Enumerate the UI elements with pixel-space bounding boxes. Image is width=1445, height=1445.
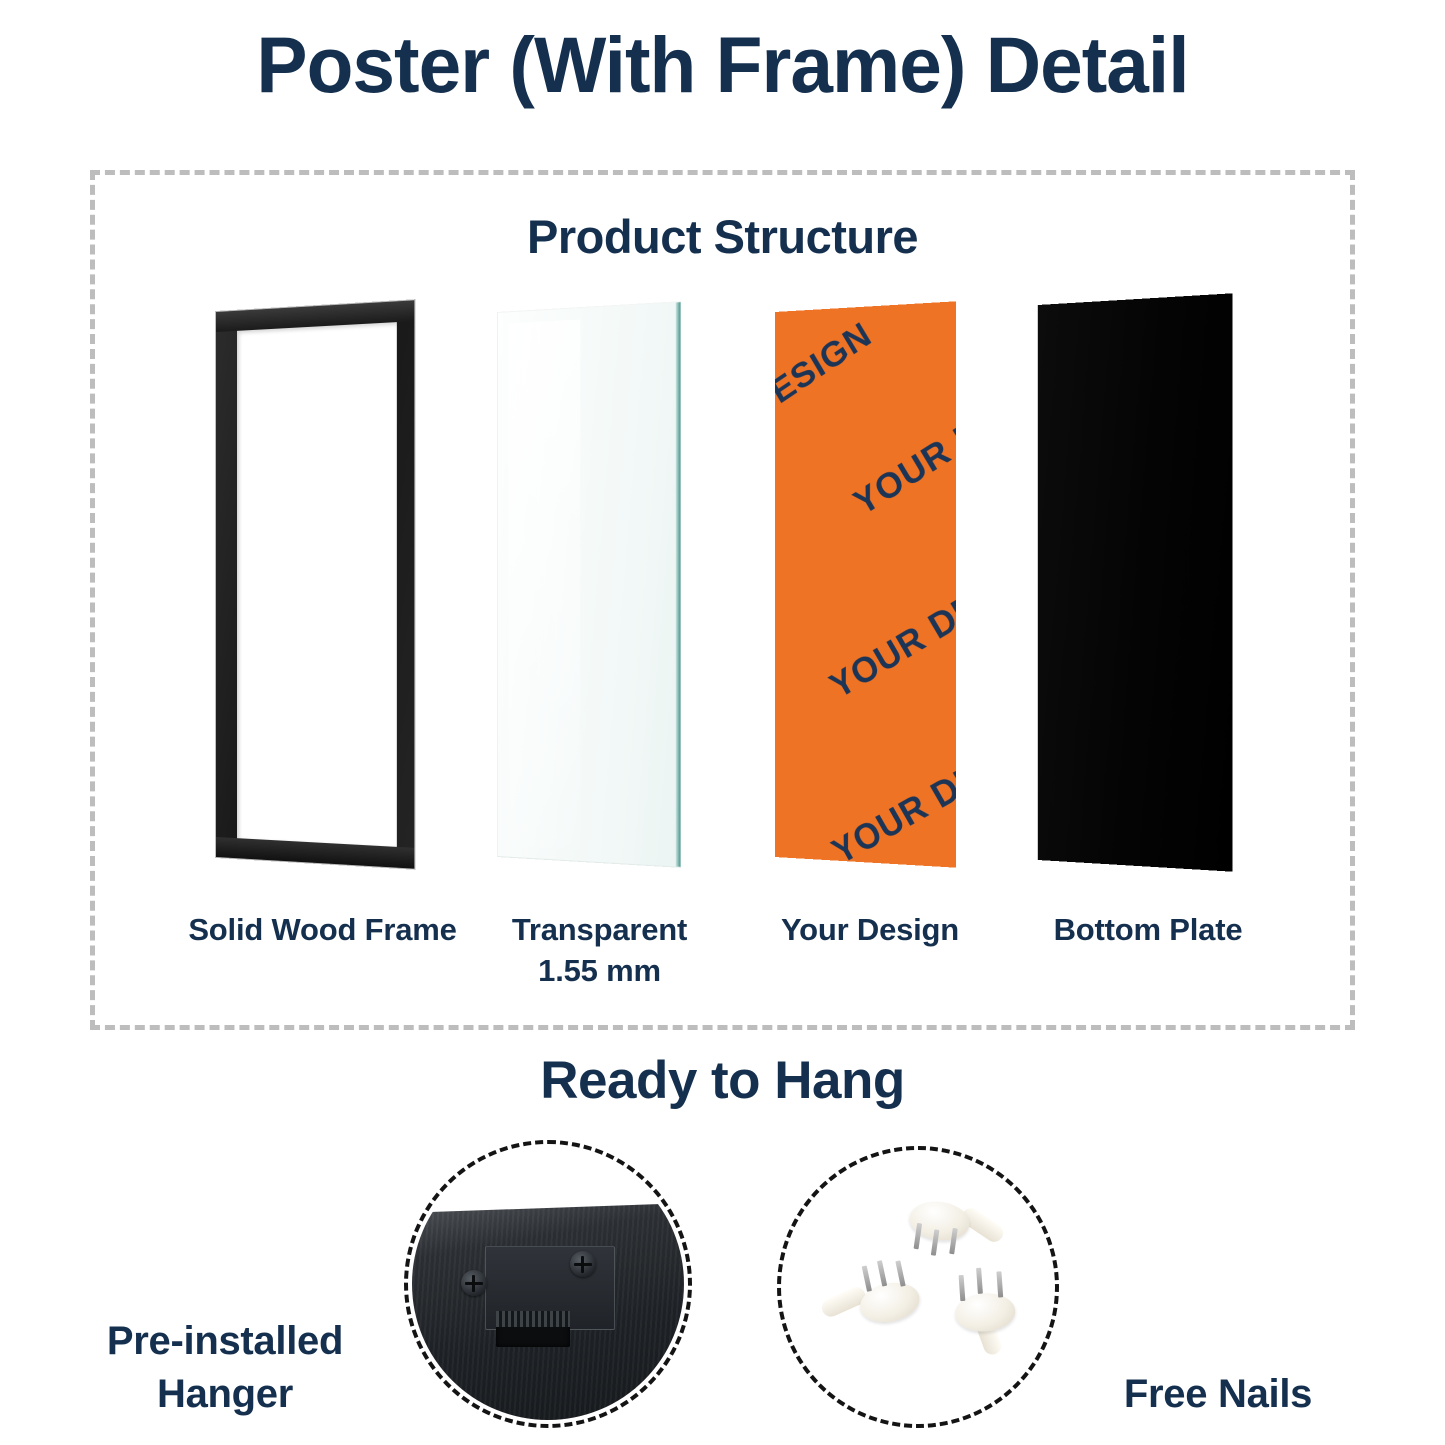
nail-hook-icon xyxy=(856,1269,938,1327)
your-design-illustration: YOUR DESIGN YOUR DESIGN YOUR DESIGN YOUR… xyxy=(775,312,958,857)
glass-green-edge xyxy=(676,302,681,867)
design-watermark-group: YOUR DESIGN YOUR DESIGN YOUR DESIGN YOUR… xyxy=(775,301,956,867)
caption-transparent-sheet: Transparent 1.55 mm xyxy=(462,910,737,992)
screw-icon xyxy=(570,1251,596,1277)
hanger-sawtooth-slot xyxy=(496,1311,569,1346)
frame-opening xyxy=(237,322,397,847)
bottom-plate-face xyxy=(1038,293,1232,871)
caption-line-2: Hanger xyxy=(60,1368,390,1421)
pre-installed-hanger-photo xyxy=(404,1140,692,1428)
design-print-face: YOUR DESIGN YOUR DESIGN YOUR DESIGN YOUR… xyxy=(775,301,956,867)
caption-line-2: 1.55 mm xyxy=(462,951,737,992)
hanger-photo-clip xyxy=(412,1148,684,1420)
caption-pre-installed-hanger: Pre-installed Hanger xyxy=(60,1315,390,1421)
nail-pin xyxy=(976,1268,983,1294)
bottom-plate-illustration xyxy=(1038,305,1234,860)
nails-photo-clip xyxy=(785,1154,1051,1420)
caption-line-1: Pre-installed xyxy=(60,1315,390,1368)
nail-pin xyxy=(862,1266,872,1292)
glass-sheen xyxy=(509,319,581,850)
nails-photo-image xyxy=(785,1154,1051,1420)
transparent-sheet-illustration xyxy=(497,312,683,857)
free-nails-photo xyxy=(777,1146,1059,1428)
nail-pin xyxy=(877,1260,887,1286)
product-structure-heading: Product Structure xyxy=(95,209,1350,264)
solid-wood-frame-illustration xyxy=(216,312,416,857)
nail-hook-icon xyxy=(954,1284,1031,1333)
hanger-photo-image xyxy=(412,1148,684,1420)
caption-bottom-plate: Bottom Plate xyxy=(1003,910,1293,951)
caption-solid-wood-frame: Solid Wood Frame xyxy=(185,910,460,951)
watermark-text: YOUR DESIGN xyxy=(775,535,956,751)
glass-face xyxy=(497,301,681,868)
nail-pin xyxy=(997,1271,1004,1297)
sawtooth-teeth xyxy=(496,1311,569,1327)
caption-your-design: Your Design xyxy=(735,910,1005,951)
page-title: Poster (With Frame) Detail xyxy=(22,22,1424,109)
nail-pin xyxy=(959,1275,966,1301)
frame-outer-moulding xyxy=(216,300,414,868)
caption-free-nails: Free Nails xyxy=(1058,1368,1378,1421)
ready-to-hang-heading: Ready to Hang xyxy=(0,1050,1445,1111)
caption-line-1: Transparent xyxy=(462,910,737,951)
watermark-text: YOUR DESIGN xyxy=(775,410,956,630)
nail-hook-icon xyxy=(907,1192,986,1246)
